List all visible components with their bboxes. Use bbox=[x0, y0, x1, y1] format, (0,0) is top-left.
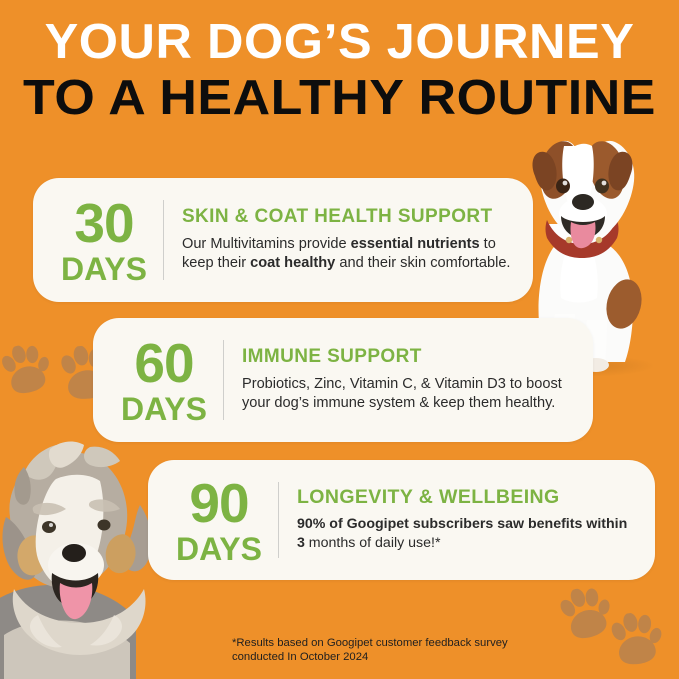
headline-line-1: YOUR DOG’S JOURNEY bbox=[0, 14, 679, 70]
card-body-60: IMMUNE SUPPORT Probiotics, Zinc, Vitamin… bbox=[224, 347, 575, 413]
days-number-90: 90 bbox=[176, 476, 262, 531]
days-word-60: DAYS bbox=[121, 393, 207, 425]
card-text-90: 90% of Googipet subscribers saw benefits… bbox=[297, 515, 637, 553]
days-badge-90: 90 DAYS bbox=[164, 476, 278, 565]
days-word-30: DAYS bbox=[61, 253, 147, 285]
card-body-30: SKIN & COAT HEALTH SUPPORT Our Multivita… bbox=[164, 207, 515, 273]
days-badge-30: 30 DAYS bbox=[49, 196, 163, 285]
footnote-disclaimer: *Results based on Googipet customer feed… bbox=[232, 636, 572, 664]
card-body-90: LONGEVITY & WELLBEING 90% of Googipet su… bbox=[279, 487, 637, 553]
card-heading-90: LONGEVITY & WELLBEING bbox=[297, 487, 637, 508]
days-word-90: DAYS bbox=[176, 533, 262, 565]
paw-print-left-upper-icon bbox=[0, 339, 58, 405]
days-badge-60: 60 DAYS bbox=[109, 336, 223, 425]
benefit-card-30-days: 30 DAYS SKIN & COAT HEALTH SUPPORT Our M… bbox=[33, 178, 533, 302]
paw-print-right-lower-icon bbox=[605, 609, 668, 675]
infographic-canvas: YOUR DOG’S JOURNEY TO A HEALTHY ROUTINE … bbox=[0, 0, 679, 679]
days-number-60: 60 bbox=[121, 336, 207, 391]
footnote-line-1: *Results based on Googipet customer feed… bbox=[232, 636, 572, 650]
days-number-30: 30 bbox=[61, 196, 147, 251]
headline: YOUR DOG’S JOURNEY TO A HEALTHY ROUTINE bbox=[0, 14, 679, 126]
card-heading-60: IMMUNE SUPPORT bbox=[242, 347, 575, 368]
benefit-card-60-days: 60 DAYS IMMUNE SUPPORT Probiotics, Zinc,… bbox=[93, 318, 593, 442]
headline-line-2: TO A HEALTHY ROUTINE bbox=[0, 70, 679, 126]
card-text-60: Probiotics, Zinc, Vitamin C, & Vitamin D… bbox=[242, 375, 575, 413]
card-text-30: Our Multivitamins provide essential nutr… bbox=[182, 235, 515, 273]
footnote-line-2: conducted In October 2024 bbox=[232, 650, 572, 664]
benefit-card-90-days: 90 DAYS LONGEVITY & WELLBEING 90% of Goo… bbox=[148, 460, 655, 580]
card-heading-30: SKIN & COAT HEALTH SUPPORT bbox=[182, 207, 515, 228]
